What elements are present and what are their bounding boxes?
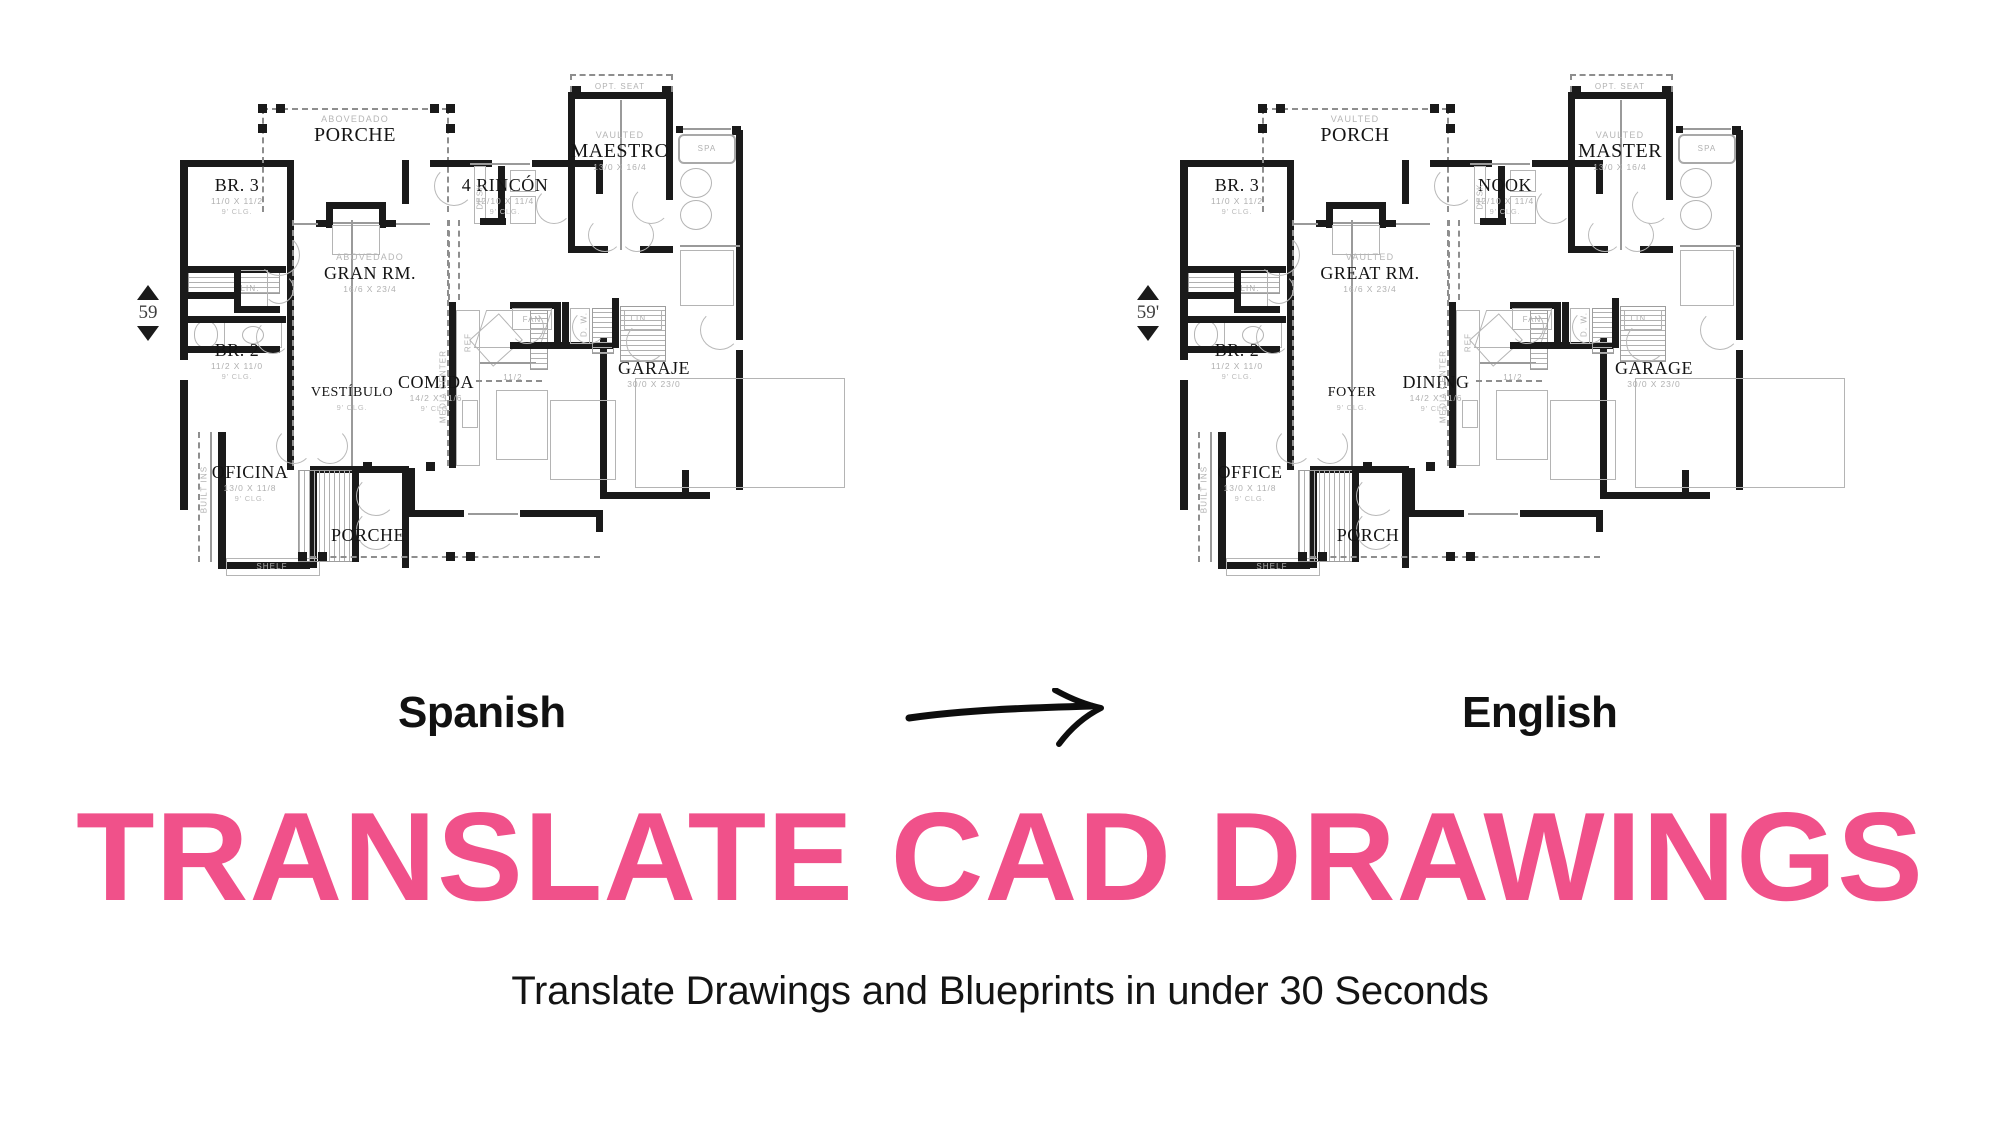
room-name: GARAGE — [1615, 358, 1693, 379]
room-label-great-room: ABOVEDADO GRAN RM. 16/6 X 23/4 — [324, 252, 416, 295]
triangle-up-icon — [1137, 285, 1159, 300]
room-name: MASTER — [1578, 141, 1662, 162]
room-ceiling: 9' CLG. — [1403, 404, 1470, 414]
room-label-master: VAULTED MAESTRO 13/0 X 16/4 — [570, 130, 669, 173]
tag-shelf: SHELF — [1256, 562, 1287, 571]
tag-opt-seat: OPT. SEAT — [1595, 82, 1645, 91]
room-name: BR. 3 — [1211, 175, 1263, 196]
room-dimension: 16/6 X 23/4 — [324, 284, 416, 295]
room-label-office: OFICINA 13/0 X 11/8 9' CLG. — [212, 462, 289, 504]
tag-spa: SPA — [1698, 144, 1717, 153]
room-name: DINING — [1403, 372, 1470, 393]
room-name: PORCHE — [331, 525, 405, 546]
tag-ref: REF — [464, 333, 473, 352]
room-name: MAESTRO — [570, 141, 669, 162]
triangle-down-icon — [1137, 326, 1159, 341]
tag-lin-2: LIN. — [1240, 284, 1259, 293]
floor-plan-english: 59' — [1180, 70, 1880, 660]
tag-built-ins: BUILT INS — [1200, 466, 1209, 513]
plan-geometry-english: VAULTED PORCH BR. 3 11/0 X 11/2 9' CLG. … — [1180, 70, 1880, 660]
room-name: FOYER — [1328, 382, 1376, 403]
triangle-down-icon — [137, 326, 159, 341]
tag-lin: LIN. — [630, 314, 649, 323]
room-label-dining: COMIDA 14/2 X 11/6 9' CLG. — [398, 372, 474, 414]
room-dimension: 14/2 X 11/6 — [398, 393, 474, 404]
room-label-porch-rear: PORCH — [1337, 525, 1400, 546]
room-name: BR. 2 — [211, 340, 263, 361]
room-name: OFICINA — [212, 462, 289, 483]
room-label-foyer: VESTÍBULO 9' CLG. — [311, 382, 393, 413]
room-label-br3: BR. 3 11/0 X 11/2 9' CLG. — [211, 175, 263, 217]
room-prefix: VAULTED — [1320, 252, 1419, 263]
tag-fan: FAN — [1523, 315, 1542, 324]
room-dimension: 14/2 X 11/6 — [1403, 393, 1470, 404]
room-dimension: 11/0 X 11/2 — [1211, 196, 1263, 207]
room-dimension: 12/10 X 11/4 — [1476, 196, 1534, 207]
room-label-office: OFFICE 13/0 X 11/8 9' CLG. — [1217, 462, 1282, 504]
room-ceiling: 9' CLG. — [211, 207, 263, 217]
tag-kitchen-dim: 11/2 — [503, 373, 522, 382]
room-label-br2: BR. 2 11/2 X 11/0 9' CLG. — [1211, 340, 1263, 382]
room-ceiling: 9' CLG. — [1211, 372, 1263, 382]
room-label-garage: GARAJE 30/0 X 23/0 — [618, 358, 690, 390]
page-title: TRANSLATE CAD DRAWINGS — [0, 798, 2000, 916]
room-dimension: 30/0 X 23/0 — [618, 379, 690, 390]
tag-lin-2: LIN. — [240, 284, 259, 293]
room-name: NOOK — [1476, 175, 1534, 196]
tag-dw: D. W. — [580, 312, 589, 337]
room-dimension: 13/0 X 11/8 — [212, 483, 289, 494]
dimension-marker-spanish: 59 — [122, 285, 174, 341]
tag-media-center: MEDIA CENTER — [1439, 350, 1448, 423]
page-subtitle: Translate Drawings and Blueprints in und… — [0, 968, 2000, 1014]
room-label-porch-front: ABOVEDADO PORCHE — [314, 114, 396, 146]
tag-ref: REF — [1464, 333, 1473, 352]
arrow-right-icon — [905, 688, 1115, 748]
room-dimension: 11/2 X 11/0 — [211, 361, 263, 372]
room-prefix: ABOVEDADO — [324, 252, 416, 263]
room-name: GARAJE — [618, 358, 690, 379]
plan-geometry-spanish: ABOVEDADO PORCHE BR. 3 11/0 X 11/2 9' CL… — [180, 70, 880, 660]
room-name: OFFICE — [1217, 462, 1282, 483]
room-label-porch-rear: PORCHE — [331, 525, 405, 546]
room-ceiling: 9' CLG. — [1328, 403, 1376, 413]
tag-desk: DESK — [1476, 183, 1485, 209]
tag-kitchen-dim: 11/2 — [1503, 373, 1522, 382]
tag-dw: D. W. — [1580, 312, 1589, 337]
tag-fan: FAN — [523, 315, 542, 324]
dimension-value: 59' — [1122, 300, 1174, 326]
room-dimension: 16/6 X 23/4 — [1320, 284, 1419, 295]
room-name: COMIDA — [398, 372, 474, 393]
room-label-nook: NOOK 12/10 X 11/4 9' CLG. — [1476, 175, 1534, 217]
caption-english: English — [1462, 688, 1617, 738]
room-label-garage: GARAGE 30/0 X 23/0 — [1615, 358, 1693, 390]
room-ceiling: 9' CLG. — [1211, 207, 1263, 217]
room-ceiling: 9' CLG. — [1476, 207, 1534, 217]
room-dimension: 13/0 X 11/8 — [1217, 483, 1282, 494]
room-name: GRAN RM. — [324, 263, 416, 284]
room-ceiling: 9' CLG. — [1217, 494, 1282, 504]
triangle-up-icon — [137, 285, 159, 300]
room-name: PORCHE — [314, 125, 396, 146]
tag-built-ins: BUILT INS — [200, 466, 209, 513]
dimension-value: 59 — [122, 300, 174, 326]
room-ceiling: 9' CLG. — [311, 403, 393, 413]
tag-desk: DESK — [476, 183, 485, 209]
caption-spanish: Spanish — [398, 688, 566, 738]
room-name: VESTÍBULO — [311, 382, 393, 403]
room-dimension: 11/0 X 11/2 — [211, 196, 263, 207]
room-name: BR. 2 — [1211, 340, 1263, 361]
room-label-br3: BR. 3 11/0 X 11/2 9' CLG. — [1211, 175, 1263, 217]
tag-media-center: MEDIA CENTER — [439, 350, 448, 423]
tag-opt-seat: OPT. SEAT — [595, 82, 645, 91]
room-ceiling: 9' CLG. — [211, 372, 263, 382]
floor-plan-spanish: 59 — [180, 70, 880, 660]
room-dimension: 30/0 X 23/0 — [1615, 379, 1693, 390]
room-dimension: 11/2 X 11/0 — [1211, 361, 1263, 372]
room-label-dining: DINING 14/2 X 11/6 9' CLG. — [1403, 372, 1470, 414]
poster-canvas: 59 — [0, 0, 2000, 1125]
room-name: GREAT RM. — [1320, 263, 1419, 284]
tag-spa: SPA — [698, 144, 717, 153]
room-ceiling: 9' CLG. — [398, 404, 474, 414]
room-label-master: VAULTED MASTER 13/0 X 16/4 — [1578, 130, 1662, 173]
room-dimension: 13/0 X 16/4 — [1578, 162, 1662, 173]
tag-lin: LIN. — [1630, 314, 1649, 323]
room-label-foyer: FOYER 9' CLG. — [1328, 382, 1376, 413]
room-ceiling: 9' CLG. — [212, 494, 289, 504]
tag-shelf: SHELF — [256, 562, 287, 571]
room-name: BR. 3 — [211, 175, 263, 196]
room-name: PORCH — [1337, 525, 1400, 546]
room-label-great-room: VAULTED GREAT RM. 16/6 X 23/4 — [1320, 252, 1419, 295]
room-dimension: 13/0 X 16/4 — [570, 162, 669, 173]
room-name: PORCH — [1320, 125, 1389, 146]
room-label-porch-front: VAULTED PORCH — [1320, 114, 1389, 146]
dimension-marker-english: 59' — [1122, 285, 1174, 341]
room-label-br2: BR. 2 11/2 X 11/0 9' CLG. — [211, 340, 263, 382]
